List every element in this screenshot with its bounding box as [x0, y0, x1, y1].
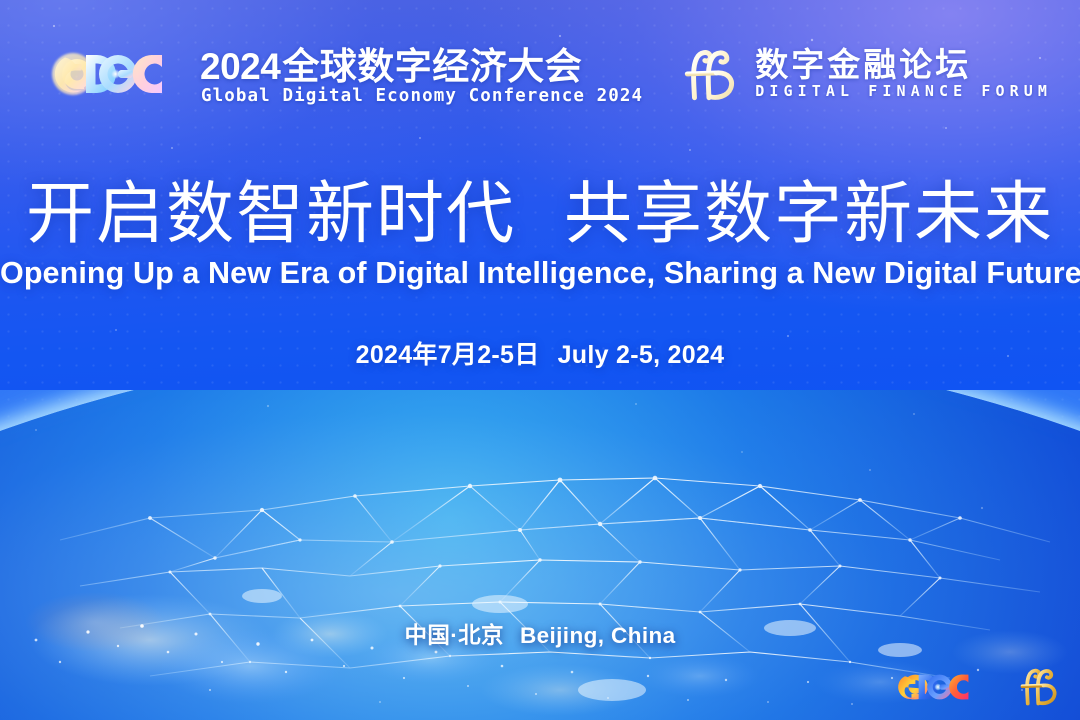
event-location-en: Beijing, China [520, 623, 676, 648]
event-date-en: July 2-5, 2024 [558, 341, 725, 369]
event-location-cn: 中国·北京 [404, 623, 504, 648]
footer-logos [882, 666, 1062, 708]
ff-monogram-icon [679, 46, 741, 104]
conference-backdrop-poster: 2024全球数字经济大会 Global Digital Economy Conf… [0, 0, 1080, 720]
event-date: 2024年7月2-5日July 2-5, 2024 [0, 335, 1080, 371]
poster-header: 2024全球数字经济大会 Global Digital Economy Conf… [0, 0, 1080, 130]
poster-main-copy: 开启数智新时代共享数字新未来 Opening Up a New Era of D… [0, 178, 1080, 371]
conference-title-cn-text: 全球数字经济大会 [282, 46, 582, 87]
gdec-logo-icon [30, 45, 195, 103]
headline-cn-part2: 共享数字新未来 [564, 176, 1054, 252]
conference-year: 2024 [200, 46, 280, 87]
conference-title-cn: 2024全球数字经济大会 [200, 48, 582, 85]
gdec-logo-footer-icon [882, 667, 990, 707]
conference-title-en: Global Digital Economy Conference 2024 [201, 88, 643, 106]
event-location: 中国·北京Beijing, China [0, 618, 1080, 650]
headline-cn: 开启数智新时代共享数字新未来 [0, 178, 1080, 250]
dff-title-en: DIGITAL FINANCE FORUM [755, 84, 1052, 99]
dff-title-cn: 数字金融论坛 [755, 48, 1052, 81]
ff-monogram-footer-icon [1016, 666, 1062, 708]
headline-cn-part1: 开启数智新时代 [26, 176, 516, 252]
event-date-cn: 2024年7月2-5日 [356, 341, 540, 369]
digital-finance-forum-logo: 数字金融论坛 DIGITAL FINANCE FORUM [679, 46, 1052, 106]
headline-en: Opening Up a New Era of Digital Intellig… [0, 256, 1080, 291]
